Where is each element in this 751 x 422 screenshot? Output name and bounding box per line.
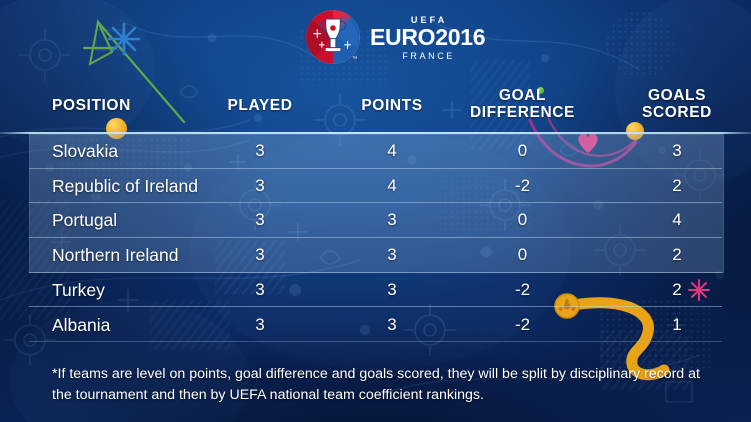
cell-played: 3 [200, 169, 320, 204]
cell-team: Albania [52, 308, 110, 343]
cell-goal-difference: -2 [455, 273, 590, 308]
cell-goals-scored: 2 [617, 169, 737, 204]
cell-points: 4 [332, 134, 452, 169]
cell-played: 3 [200, 134, 320, 169]
cell-played: 3 [200, 308, 320, 343]
cell-played: 3 [200, 203, 320, 238]
column-header-position: POSITION [52, 97, 131, 114]
cell-goal-difference: -2 [455, 169, 590, 204]
cell-team: Republic of Ireland [52, 169, 198, 204]
cell-points: 3 [332, 308, 452, 343]
cell-points: 3 [332, 238, 452, 273]
cell-team: Turkey [52, 273, 105, 308]
table-header-row: POSITION PLAYED POINTS GOAL DIFFERENCE G… [0, 84, 751, 132]
cell-goals-scored: 1 [617, 308, 737, 343]
cell-goals-scored: 3 [617, 134, 737, 169]
column-header-goal-difference: GOAL DIFFERENCE [455, 87, 590, 121]
svg-text:™: ™ [352, 57, 358, 63]
uefa-euro-2016-logo: ™ UEFA EURO2016 FRANCE [305, 6, 485, 68]
goals-scored-line-2: SCORED [617, 104, 737, 121]
cell-goals-scored: 2 [617, 238, 737, 273]
cell-goals-scored: 4 [617, 203, 737, 238]
cell-goal-difference: 0 [455, 203, 590, 238]
cell-points: 4 [332, 169, 452, 204]
cell-played: 3 [200, 238, 320, 273]
table-row[interactable]: Northern Ireland3302 [0, 238, 751, 273]
cell-points: 3 [332, 273, 452, 308]
goals-scored-line-1: GOALS [617, 87, 737, 104]
goal-difference-line-1: GOAL [455, 87, 590, 104]
euro-2016-wordmark: EURO2016 [370, 26, 485, 49]
cell-goals-scored: 2 [617, 273, 737, 308]
year-word: 2016 [435, 24, 485, 50]
table-row[interactable]: Portugal3304 [0, 203, 751, 238]
column-header-goals-scored: GOALS SCORED [617, 87, 737, 121]
row-divider [29, 341, 722, 342]
table-row[interactable]: Republic of Ireland34-22 [0, 169, 751, 204]
footnote-text: *If teams are level on points, goal diff… [52, 364, 712, 406]
euro-word: EURO [370, 24, 435, 50]
graphic-canvas: ™ UEFA EURO2016 FRANCE POSITION PLAYED P… [0, 0, 751, 422]
france-wordmark: FRANCE [402, 52, 455, 61]
table-row[interactable]: Slovakia3403 [0, 134, 751, 169]
cell-team: Slovakia [52, 134, 118, 169]
table-row[interactable]: Turkey33-22 [0, 273, 751, 308]
table-row[interactable]: Albania33-21 [0, 308, 751, 343]
cell-goal-difference: 0 [455, 134, 590, 169]
uefa-euro-2016-trophy-logo-icon: ™ [305, 9, 361, 65]
cell-goal-difference: 0 [455, 238, 590, 273]
column-header-played: PLAYED [200, 97, 320, 114]
column-header-points: POINTS [332, 97, 452, 114]
cell-team: Northern Ireland [52, 238, 178, 273]
cell-points: 3 [332, 203, 452, 238]
goal-difference-line-2: DIFFERENCE [455, 104, 590, 121]
cell-played: 3 [200, 273, 320, 308]
cell-team: Portugal [52, 203, 117, 238]
cell-goal-difference: -2 [455, 308, 590, 343]
